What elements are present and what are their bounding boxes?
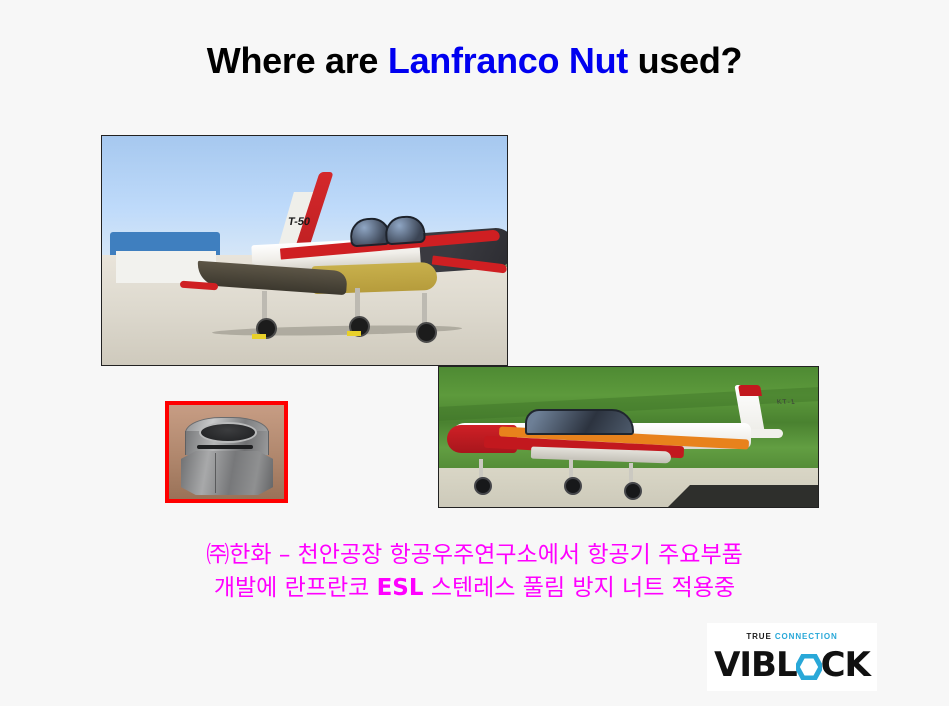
prop-main-gear-strut-left bbox=[569, 459, 573, 479]
title-prefix: Where are bbox=[207, 40, 388, 81]
logo-tagline: TRUE CONNECTION bbox=[707, 632, 877, 641]
wheel-chock-right bbox=[347, 331, 361, 336]
taxiway-marking bbox=[668, 485, 819, 507]
logo-word-part2: CK bbox=[821, 645, 870, 685]
prop-nose-wheel bbox=[474, 477, 492, 495]
logo-wordmark: VIBLCK bbox=[707, 645, 877, 685]
lanfranco-esl-nut-photo bbox=[165, 401, 288, 503]
wheel-chock-left bbox=[252, 334, 266, 339]
nut-thread-bore bbox=[199, 422, 257, 443]
title-suffix: used? bbox=[628, 40, 742, 81]
caption-line-2-after: 스텐레스 풀림 방지 너트 적용중 bbox=[424, 575, 736, 601]
caption-text: ㈜한화 – 천안공장 항공우주연구소에서 항공기 주요부품 개발에 란프란코 E… bbox=[0, 539, 949, 605]
logo-word-part1: VIBL bbox=[714, 645, 797, 685]
nut-slot bbox=[197, 445, 253, 449]
nut-facet-edge bbox=[215, 453, 216, 493]
page-title: Where are Lanfranco Nut used? bbox=[0, 40, 949, 82]
main-gear-strut-right bbox=[422, 293, 427, 323]
t50-jet-trainer-photo: T-50 bbox=[101, 135, 508, 366]
prop-main-wheel-left bbox=[564, 477, 582, 495]
caption-line-2-before: 개발에 란프란코 bbox=[214, 575, 377, 601]
nut-hex-body bbox=[181, 451, 273, 495]
nose-gear-strut bbox=[262, 291, 267, 321]
logo-tagline-connection: CONNECTION bbox=[775, 632, 838, 641]
prop-main-wheel-right bbox=[624, 482, 642, 500]
tail-marking-label: T-50 bbox=[287, 216, 311, 228]
prop-nose-gear-strut bbox=[479, 459, 483, 479]
main-wheel-right bbox=[416, 322, 437, 343]
caption-line-1: ㈜한화 – 천안공장 항공우주연구소에서 항공기 주요부품 bbox=[0, 539, 949, 572]
hexagon-icon bbox=[796, 654, 822, 680]
caption-esl-emphasis: ESL bbox=[377, 575, 424, 601]
caption-line-2: 개발에 란프란코 ESL 스텐레스 풀림 방지 너트 적용중 bbox=[0, 572, 949, 605]
title-highlight: Lanfranco Nut bbox=[388, 40, 628, 81]
logo-tagline-true: TRUE bbox=[746, 632, 771, 641]
prop-tail-marking-label: KT-1 bbox=[777, 399, 797, 406]
viblock-logo: TRUE CONNECTION VIBLCK bbox=[707, 623, 877, 691]
kt1-turboprop-photo: KT-1 bbox=[438, 366, 819, 508]
prop-tail-fin-red-cap bbox=[738, 385, 762, 396]
prop-main-gear-strut-right bbox=[629, 463, 633, 483]
prop-canopy bbox=[525, 409, 634, 435]
main-gear-strut-left bbox=[355, 288, 360, 318]
